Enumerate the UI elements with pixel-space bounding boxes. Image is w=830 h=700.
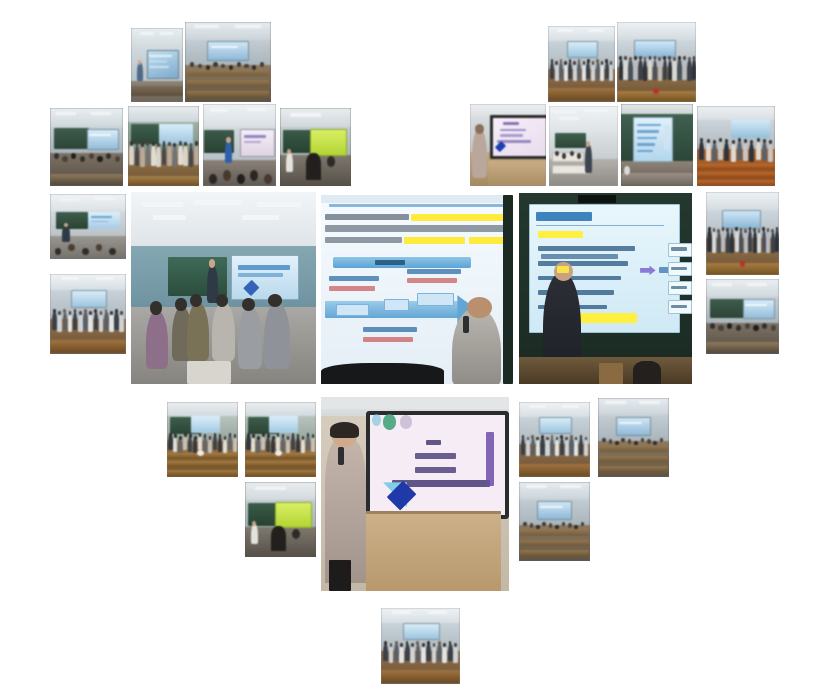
lecture-room-rear-right [706,279,779,354]
classroom-students-standing [128,106,199,186]
photo-collage [0,0,830,700]
green-screen-lecture [280,108,351,186]
lecture-hall-projector-talk [131,28,183,102]
auditorium-group-photo-top [548,26,615,102]
auditorium-ceremony [697,106,775,186]
slide-civility-pioneer [519,193,692,384]
slide-closing-remarks [321,397,509,591]
seminar-room-presenter [203,104,276,186]
lecture-hall-standing-group [617,22,696,102]
hall-group-photo-right [706,192,779,275]
auditorium-front-rows-mid [245,402,316,477]
flat-classroom-discussion [549,106,618,186]
speaker-with-pink-slide [470,104,546,186]
auditorium-front-rows-left [167,402,238,477]
blackboard-slide-lecture [621,104,693,186]
lecture-audience-right [598,398,669,477]
hall-group-photo-left [50,274,126,354]
tiered-classroom-back-view [50,108,123,186]
main-classroom-wide-shot [131,192,316,384]
smart-classroom-rear [50,194,126,259]
hall-group-photo-right-lower [519,402,590,477]
auditorium-group-photo-bottom [381,608,460,684]
classroom-audience-wide [185,22,271,102]
green-screen-classroom-small [245,482,316,557]
lecture-audience-right-lower [519,482,590,561]
slide-discipline-rules [321,195,513,384]
